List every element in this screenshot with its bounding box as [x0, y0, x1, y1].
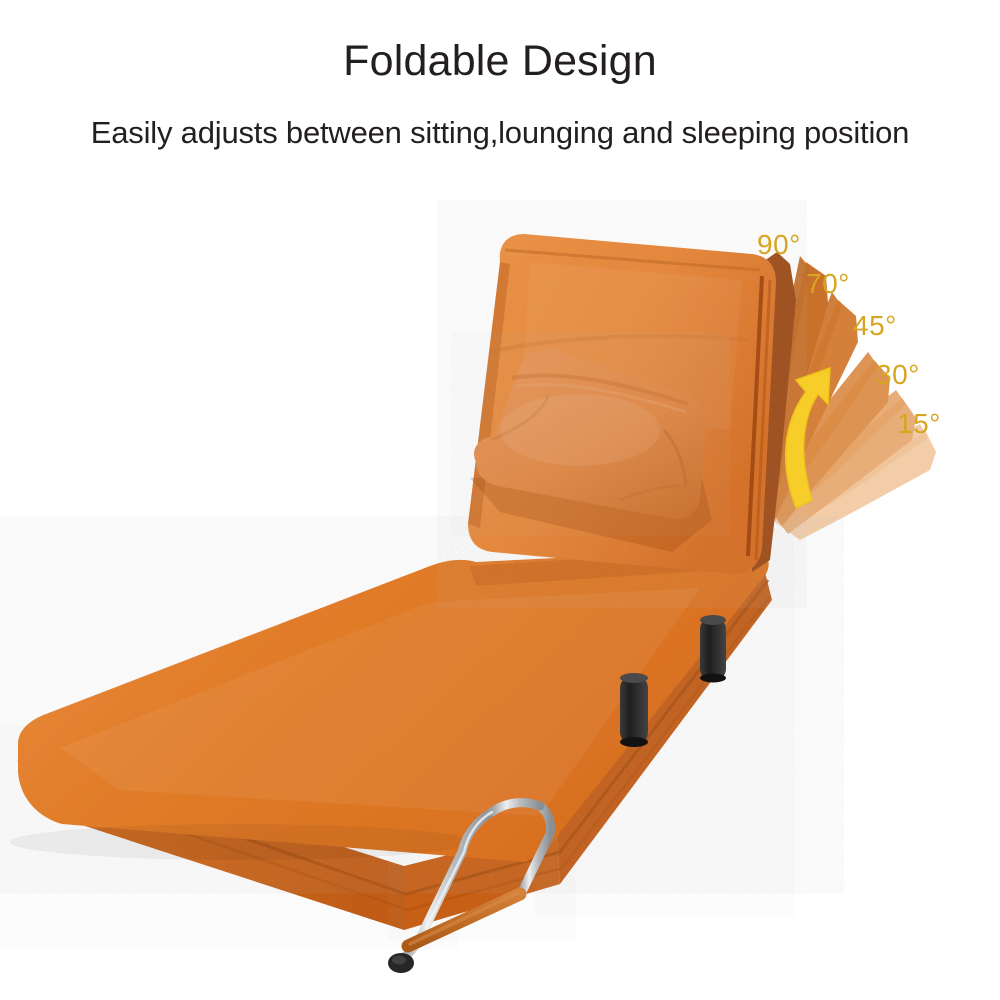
angle-label-15: 15° [897, 408, 941, 440]
support-leg-rear [700, 615, 726, 683]
angle-label-30: 30° [876, 359, 920, 391]
angle-label-45: 45° [853, 310, 897, 342]
angle-label-70: 70° [806, 268, 850, 300]
angle-label-90: 90° [757, 229, 801, 261]
support-leg-front [620, 673, 648, 747]
product-feature-panel: Foldable Design Easily adjusts between s… [0, 0, 1000, 1000]
handle-end-cap [388, 953, 414, 973]
seat-mattress [10, 548, 772, 930]
product-image [0, 0, 1000, 1000]
